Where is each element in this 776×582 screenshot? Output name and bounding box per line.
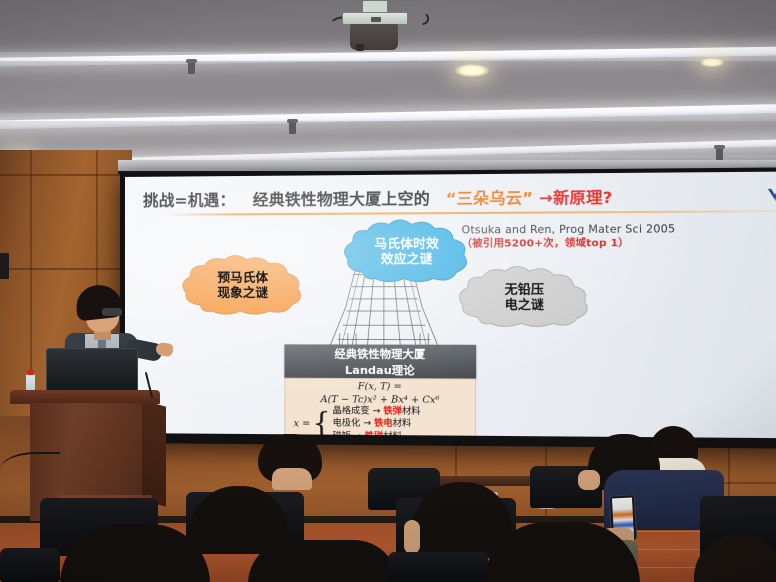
cloud-orange-line2: 现象之谜 [217, 286, 268, 301]
arrow-icon-1: → [373, 407, 381, 417]
projection-screen: 挑战=机遇： 经典铁性物理大厦上空的 “三朵乌云” →新原理? Y m [120, 167, 776, 448]
wall-speaker [0, 253, 9, 279]
order-parameter-cases: x = { 晶格成变 → 铁弹材料 电极化 → 铁电材料 [294, 405, 476, 438]
case-1-tail: 材料 [402, 407, 421, 417]
cloud-gray-label: 无铅压 电之谜 [505, 283, 544, 313]
cloud-lead-free-piezo: 无铅压 电之谜 [456, 266, 592, 330]
case-3-tail: 材料 [383, 432, 402, 438]
laptop-screen [46, 348, 138, 392]
slide-title-part2: 经典铁性物理大厦上空的 [253, 190, 430, 209]
title-divider [165, 210, 776, 216]
downlight-1 [455, 64, 489, 77]
arrow-icon-3: → [354, 432, 362, 439]
sprinkler-icon-1 [188, 62, 195, 74]
cases-variable: x = [294, 418, 311, 429]
slide-title-part3: “三朵乌云” [446, 189, 533, 208]
case-2-highlight: 铁电 [374, 419, 393, 429]
chair-backrest [0, 548, 60, 582]
audience-ear-4 [404, 520, 420, 554]
ceiling-projector [336, 0, 416, 52]
theory-header-box: 经典铁性物理大厦 Landau理论 [284, 344, 476, 378]
laptop[interactable] [46, 348, 138, 394]
chair-front-2[interactable] [388, 552, 488, 582]
podium-top [10, 390, 160, 404]
lecture-hall-photo: 挑战=机遇： 经典铁性物理大厦上空的 “三朵乌云” →新原理? Y m [0, 0, 776, 582]
audience-hand-face [578, 470, 600, 490]
case-2-left: 电极化 [333, 419, 361, 429]
citation-line-2: （被引用5200+次，领域top 1） [462, 237, 676, 252]
case-1-highlight: 铁弹 [383, 407, 402, 417]
case-2-tail: 材料 [393, 419, 412, 429]
slide-title-part4: →新原理? [539, 188, 612, 207]
wall-seam-1 [0, 174, 132, 176]
wall-seam-2 [0, 268, 132, 270]
cloud-orange-line1: 预马氏体 [217, 271, 268, 286]
ceiling-shade-mid [0, 61, 776, 113]
slide-title-part1: 挑战=机遇： [143, 191, 235, 210]
projector-lens [356, 44, 364, 51]
audience-shoulder-1 [272, 468, 312, 490]
theory-header-line2: Landau理论 [284, 362, 476, 379]
cloud-gray-line1: 无铅压 [505, 283, 544, 298]
formula-lhs: F(x, T) = [285, 381, 475, 393]
y-check-icon [767, 186, 776, 203]
case-3-left: 磁矩 [333, 431, 351, 438]
brand-logo: Y m [767, 186, 776, 203]
landau-formula-box: F(x, T) = A(T − Tc)x² + Bx⁴ + Cx⁶ x = { … [284, 378, 476, 439]
case-1-left: 晶格成变 [333, 406, 370, 416]
downlight-2 [700, 58, 724, 67]
cloud-blue-label: 马氏体时效 效应之谜 [374, 237, 439, 267]
case-row-1: 晶格成变 → 铁弹材料 [333, 405, 421, 418]
podium-side-panel [140, 399, 166, 506]
arrow-icon-2: → [363, 419, 371, 429]
presentation-slide: 挑战=机遇： 经典铁性物理大厦上空的 “三朵乌云” →新原理? Y m [125, 171, 776, 438]
cloud-gray-line2: 电之谜 [505, 298, 544, 313]
theory-header-line1: 经典铁性物理大厦 [284, 346, 476, 362]
sprinkler-icon-2 [289, 122, 296, 134]
cloud-pre-martensite: 预马氏体 现象之谜 [180, 254, 306, 317]
cloud-orange-label: 预马氏体 现象之谜 [217, 271, 268, 301]
sprinkler-icon-3 [716, 148, 723, 160]
citation-line-1: Otsuka and Ren, Prog Mater Sci 2005 [462, 222, 676, 238]
left-brace-icon: { [312, 413, 330, 436]
chair-front-1[interactable] [0, 548, 60, 582]
slide-citation: Otsuka and Ren, Prog Mater Sci 2005 （被引用… [462, 222, 676, 251]
slide-title: 挑战=机遇： 经典铁性物理大厦上空的 “三朵乌云” →新原理? [143, 184, 767, 211]
audience-head-6 [248, 540, 398, 582]
presenter-water-bottle [26, 374, 35, 391]
case-row-3: 磁矩 → 铁磁材料 [333, 430, 421, 438]
cloud-blue-line1: 马氏体时效 [374, 237, 439, 252]
cases-list: 晶格成变 → 铁弹材料 电极化 → 铁电材料 磁矩 → 铁磁材料 [333, 405, 421, 438]
glasses-icon [102, 308, 122, 316]
case-row-2: 电极化 → 铁电材料 [333, 418, 421, 431]
cloud-martensite-aging: 马氏体时效 效应之谜 [343, 219, 471, 285]
case-3-highlight: 铁磁 [365, 432, 384, 439]
cloud-blue-line2: 效应之谜 [374, 252, 439, 267]
chair-backrest [388, 552, 488, 582]
